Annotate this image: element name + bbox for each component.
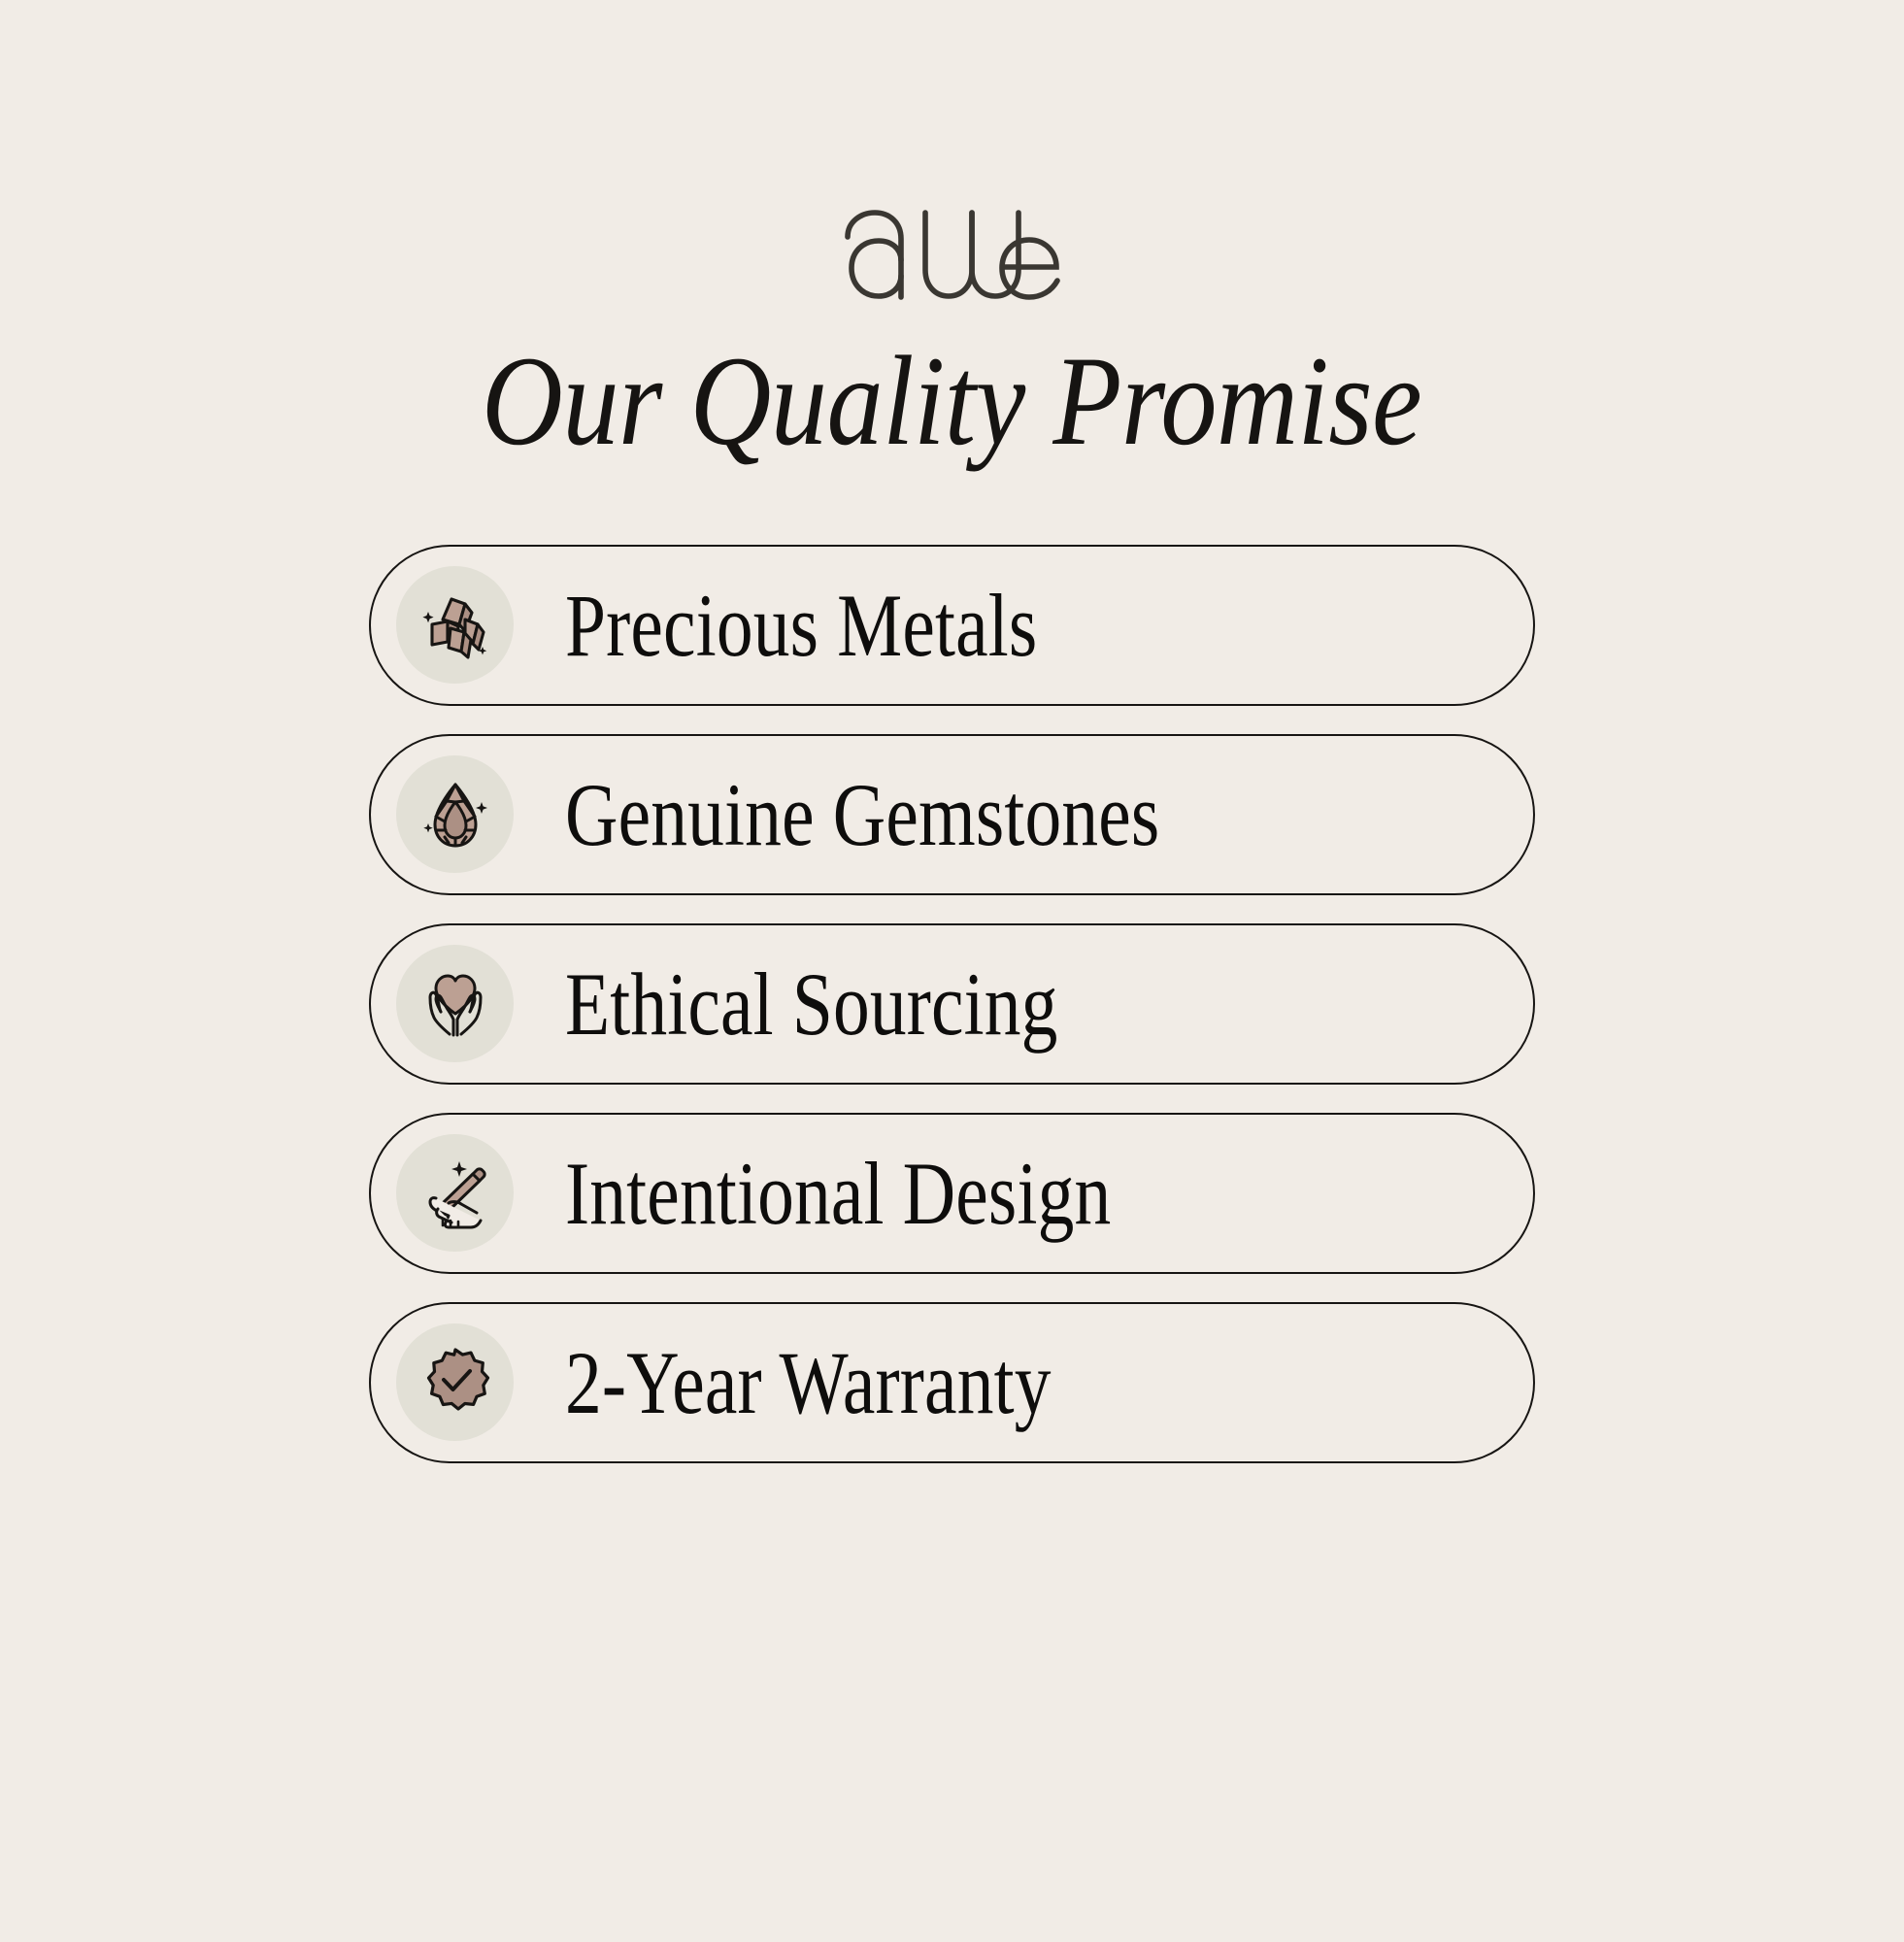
hand-with-pencil-icon <box>417 1155 494 1232</box>
hands-holding-heart-icon <box>417 965 494 1043</box>
quality-promise-page: Our Quality Promise <box>0 0 1904 1942</box>
promise-item-genuine-gemstones[interactable]: Genuine Gemstones <box>369 734 1535 895</box>
promise-label: Precious Metals <box>565 581 1037 670</box>
brand-logo <box>836 202 1069 307</box>
pear-gemstone-icon <box>418 777 493 853</box>
promise-label: Intentional Design <box>565 1149 1111 1238</box>
promise-item-ethical-sourcing[interactable]: Ethical Sourcing <box>369 923 1535 1085</box>
promise-label: Ethical Sourcing <box>565 959 1058 1049</box>
icon-badge <box>396 566 514 684</box>
icon-badge <box>396 1323 514 1441</box>
awe-wordmark-icon <box>836 204 1069 305</box>
gold-bars-icon <box>418 587 493 663</box>
page-title: Our Quality Promise <box>482 334 1421 469</box>
promise-label: 2-Year Warranty <box>565 1338 1052 1427</box>
icon-badge <box>396 1134 514 1252</box>
promise-list: Precious Metals <box>369 545 1535 1463</box>
icon-badge <box>396 755 514 873</box>
promise-label: Genuine Gemstones <box>565 770 1159 859</box>
promise-item-warranty[interactable]: 2-Year Warranty <box>369 1302 1535 1463</box>
icon-badge <box>396 945 514 1062</box>
promise-item-precious-metals[interactable]: Precious Metals <box>369 545 1535 706</box>
badge-check-icon <box>418 1346 492 1420</box>
promise-item-intentional-design[interactable]: Intentional Design <box>369 1113 1535 1274</box>
